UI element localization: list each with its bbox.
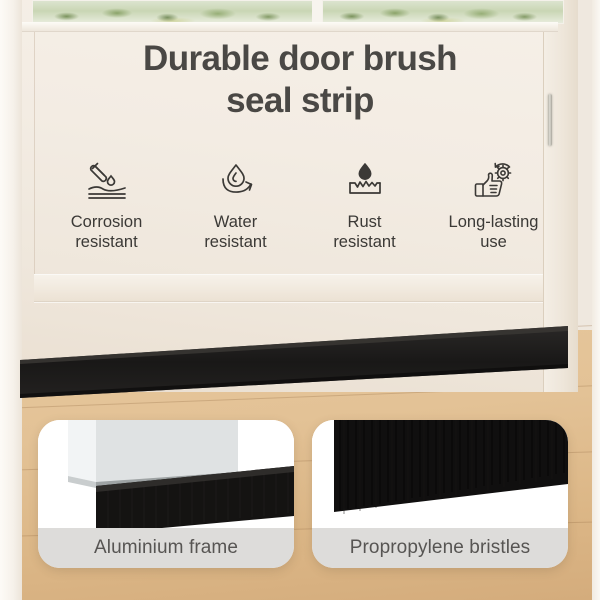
card-label-band: Propropylene bristles: [312, 528, 568, 568]
window-pane-left: [32, 0, 314, 24]
window-mullion: [312, 0, 322, 24]
feature-list: Corrosion resistant Water resistant: [42, 160, 558, 252]
door-brush-seal-strip: [20, 326, 568, 400]
rust-droplet-surface-icon: [300, 160, 429, 204]
aluminium-frame-closeup: [38, 420, 294, 528]
card-label: Propropylene bristles: [350, 537, 531, 559]
card-label: Aluminium frame: [94, 537, 238, 559]
thumbs-up-gear-icon: [429, 160, 558, 204]
door-rail: [34, 274, 544, 302]
callout-card-bristles: Propropylene bristles: [312, 420, 568, 568]
window-pane-right: [322, 0, 564, 24]
callout-card-aluminium-frame: Aluminium frame: [38, 420, 294, 568]
product-marketing-image: Durable door brush seal strip Corrosion …: [0, 0, 600, 600]
window: [18, 0, 558, 30]
feature-label: Rust resistant: [300, 212, 429, 252]
feature-label: Corrosion resistant: [42, 212, 171, 252]
card-label-band: Aluminium frame: [38, 528, 294, 568]
bristles-closeup: [312, 420, 568, 528]
feature-rust-resistant: Rust resistant: [300, 160, 429, 252]
feature-label: Water resistant: [171, 212, 300, 252]
page-title: Durable door brush seal strip: [0, 38, 600, 121]
window-sill: [18, 22, 558, 32]
corrosion-test-tube-icon: [42, 160, 171, 204]
feature-long-lasting-use: Long-lasting use: [429, 160, 558, 252]
feature-water-resistant: Water resistant: [171, 160, 300, 252]
feature-label: Long-lasting use: [429, 212, 558, 252]
water-droplet-arrow-icon: [171, 160, 300, 204]
headline-line-1: Durable door brush: [143, 39, 457, 78]
headline-line-2: seal strip: [0, 80, 600, 122]
feature-corrosion-resistant: Corrosion resistant: [42, 160, 171, 252]
